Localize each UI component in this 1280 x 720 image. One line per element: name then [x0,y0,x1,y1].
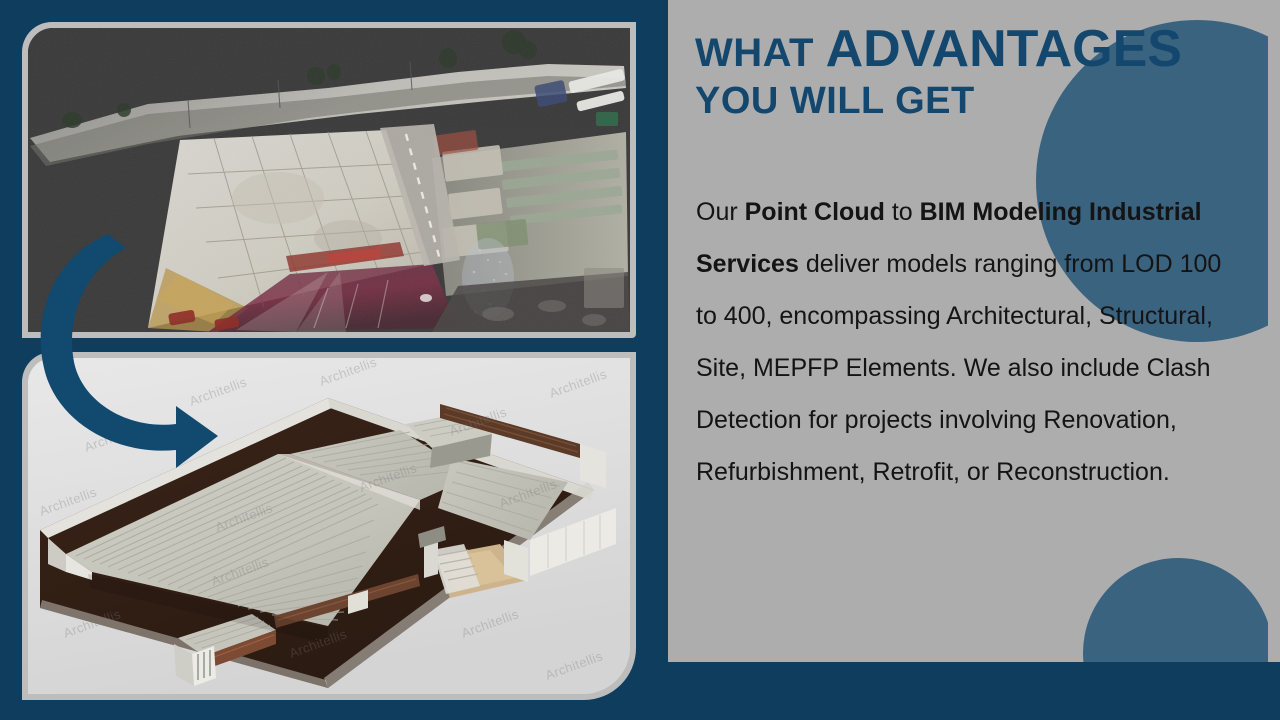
headline-line-2: YOU WILL GET [695,81,1182,121]
slide-root: Architellis Architellis Architellis Arch… [0,0,1280,720]
body-seg-4: deliver models ranging from LOD 100 to 4… [696,250,1221,486]
panel-right-edge [1268,0,1280,662]
content-panel: WHAT ADVANTAGES YOU WILL GET Our Point C… [668,0,1268,662]
body-seg-2: to [885,198,920,226]
page-title: WHAT ADVANTAGES YOU WILL GET [695,22,1182,121]
curved-transform-arrow [0,200,260,490]
body-paragraph: Our Point Cloud to BIM Modeling Industri… [696,186,1226,498]
left-media-column: Architellis Architellis Architellis Arch… [0,0,660,720]
body-seg-0: Our [696,198,745,226]
decorative-circle-bottom-right [1083,558,1268,662]
headline-word-what: WHAT [695,31,814,75]
body-seg-1: Point Cloud [745,198,885,226]
headline-line-1: WHAT ADVANTAGES [695,22,1182,77]
headline-word-advantages: ADVANTAGES [826,20,1182,78]
